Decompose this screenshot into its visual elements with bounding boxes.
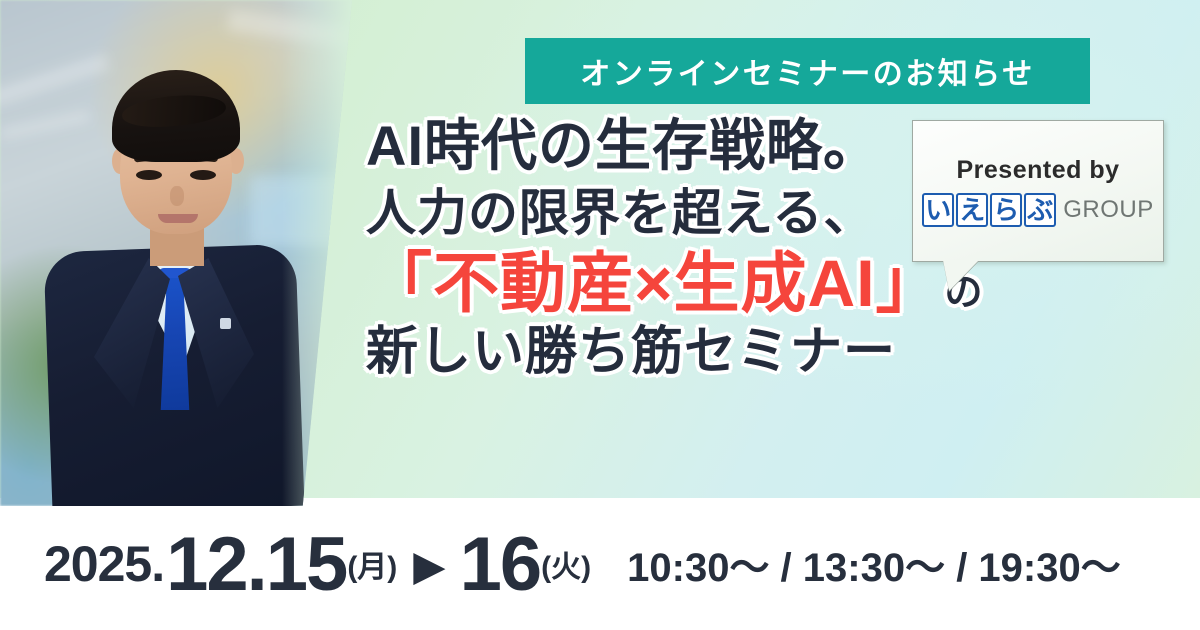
- schedule-day2: 16: [460, 521, 541, 608]
- logo-char-i: い: [922, 193, 954, 227]
- logo-char-bu: ぶ: [1024, 193, 1056, 227]
- seminar-banner: オンラインセミナーのお知らせ AI時代の生存戦略。 人力の限界を超える、 「不動…: [0, 0, 1200, 630]
- lapel-pin: [220, 318, 231, 329]
- announcement-badge: オンラインセミナーのお知らせ: [525, 38, 1090, 104]
- schedule-day1-weekday: (月): [347, 542, 397, 586]
- schedule-session-times: 10:30〜 / 13:30〜 / 19:30〜: [627, 535, 1121, 593]
- schedule-bar: 2025. 12.15 (月) ▶ 16 (火) 10:30〜 / 13:30〜…: [0, 498, 1200, 630]
- headline-line-4: 新しい勝ち筋セミナー: [366, 326, 1186, 378]
- hair: [112, 70, 240, 162]
- arrow-right-icon: ▶: [413, 545, 445, 587]
- mouth: [158, 214, 198, 223]
- headline-highlight: 「不動産×生成AI」: [366, 250, 943, 316]
- schedule-day2-weekday: (火): [541, 542, 591, 586]
- eye-left: [136, 170, 162, 180]
- announcement-badge-label: オンラインセミナーのお知らせ: [580, 49, 1034, 93]
- logo-char-ra: ら: [990, 193, 1022, 227]
- speaker-photo: [0, 0, 352, 506]
- nose: [170, 186, 184, 206]
- schedule-year: 2025.: [44, 535, 164, 593]
- person-figure: [42, 36, 310, 506]
- presented-by-card: Presented by い え ら ぶ GROUP: [912, 120, 1164, 262]
- eye-right: [190, 170, 216, 180]
- schedule-month-day: 12.15: [166, 521, 346, 608]
- ielove-logomark: い え ら ぶ: [922, 193, 1056, 227]
- presented-by-label: Presented by: [956, 156, 1119, 185]
- ielove-group-logo: い え ら ぶ GROUP: [922, 193, 1154, 227]
- logo-char-e: え: [956, 193, 988, 227]
- logo-group-text: GROUP: [1063, 196, 1154, 224]
